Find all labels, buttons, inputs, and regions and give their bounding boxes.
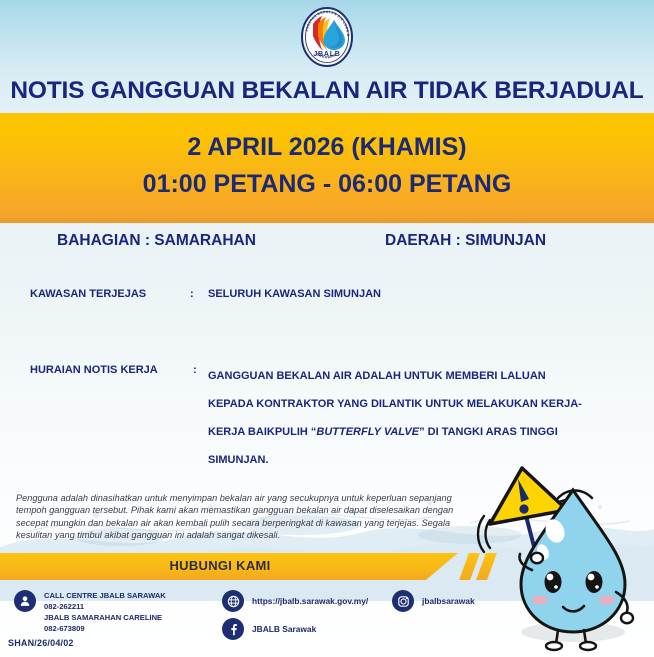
contact-banner-title: HUBUNGI KAMI: [0, 558, 440, 573]
work-notice-emphasis: BUTTERFLY VALVE: [316, 426, 419, 438]
work-notice-line-1: GANGGUAN BEKALAN AIR ADALAH UNTUK MEMBER…: [208, 362, 628, 390]
disclaimer-text: Pengguna adalah dinasihatkan untuk menyi…: [16, 492, 468, 542]
call-centre-name: CALL CENTRE JBALB SARAWAK: [44, 591, 166, 602]
careline-name: JBALB SAMARAHAN CARELINE: [44, 613, 162, 624]
daerah-label: DAERAH : SIMUNJAN: [385, 232, 546, 250]
instagram-handle[interactable]: jbalbsarawak: [422, 596, 475, 607]
globe-icon: [222, 590, 244, 612]
facebook-handle[interactable]: JBALB Sarawak: [252, 624, 316, 635]
instagram-icon: [392, 590, 414, 612]
call-centre-phone[interactable]: 082-262211: [44, 602, 84, 613]
work-notice-line-4: SIMUNJAN.: [208, 446, 628, 474]
affected-area-value: SELURUH KAWASAN SIMUNJAN: [208, 288, 381, 300]
work-notice-colon: :: [193, 364, 197, 376]
work-notice-label: HURAIAN NOTIS KERJA: [30, 364, 190, 376]
affected-area-colon: :: [190, 288, 208, 300]
jbalb-logo: JBALB JABATAN BEKALAN AIR LUAR BANDAR SA…: [299, 6, 355, 68]
bahagian-label: BAHAGIAN : SAMARAHAN: [57, 232, 256, 250]
date-time-banner: [0, 113, 654, 218]
water-disruption-notice-poster: JBALB JABATAN BEKALAN AIR LUAR BANDAR SA…: [0, 0, 654, 657]
work-notice-line-3: KERJA BAIKPULIH “BUTTERFLY VALVE” DI TAN…: [208, 418, 628, 446]
reference-code: SHAN/26/04/02: [8, 638, 74, 648]
affected-area-label: KAWASAN TERJEJAS: [30, 288, 190, 300]
page-title: NOTIS GANGGUAN BEKALAN AIR TIDAK BERJADU…: [0, 77, 654, 105]
facebook-icon: [222, 618, 244, 640]
disruption-date: 2 APRIL 2026 (KHAMIS): [0, 133, 654, 162]
careline-phone[interactable]: 082-673809: [44, 624, 85, 635]
work-notice-text: GANGGUAN BEKALAN AIR ADALAH UNTUK MEMBER…: [208, 362, 628, 474]
work-notice-line-3-post: ” DI TANGKI ARAS TINGGI: [419, 426, 558, 438]
work-notice-line-2: KEPADA KONTRAKTOR YANG DILANTIK UNTUK ME…: [208, 390, 628, 418]
work-notice-line-3-pre: KERJA BAIKPULIH “: [208, 426, 316, 438]
disruption-time: 01:00 PETANG - 06:00 PETANG: [0, 170, 654, 199]
person-icon: [14, 590, 36, 612]
website-url[interactable]: https://jbalb.sarawak.gov.my/: [252, 596, 368, 607]
affected-area-row: KAWASAN TERJEJAS:SELURUH KAWASAN SIMUNJA…: [30, 288, 630, 300]
